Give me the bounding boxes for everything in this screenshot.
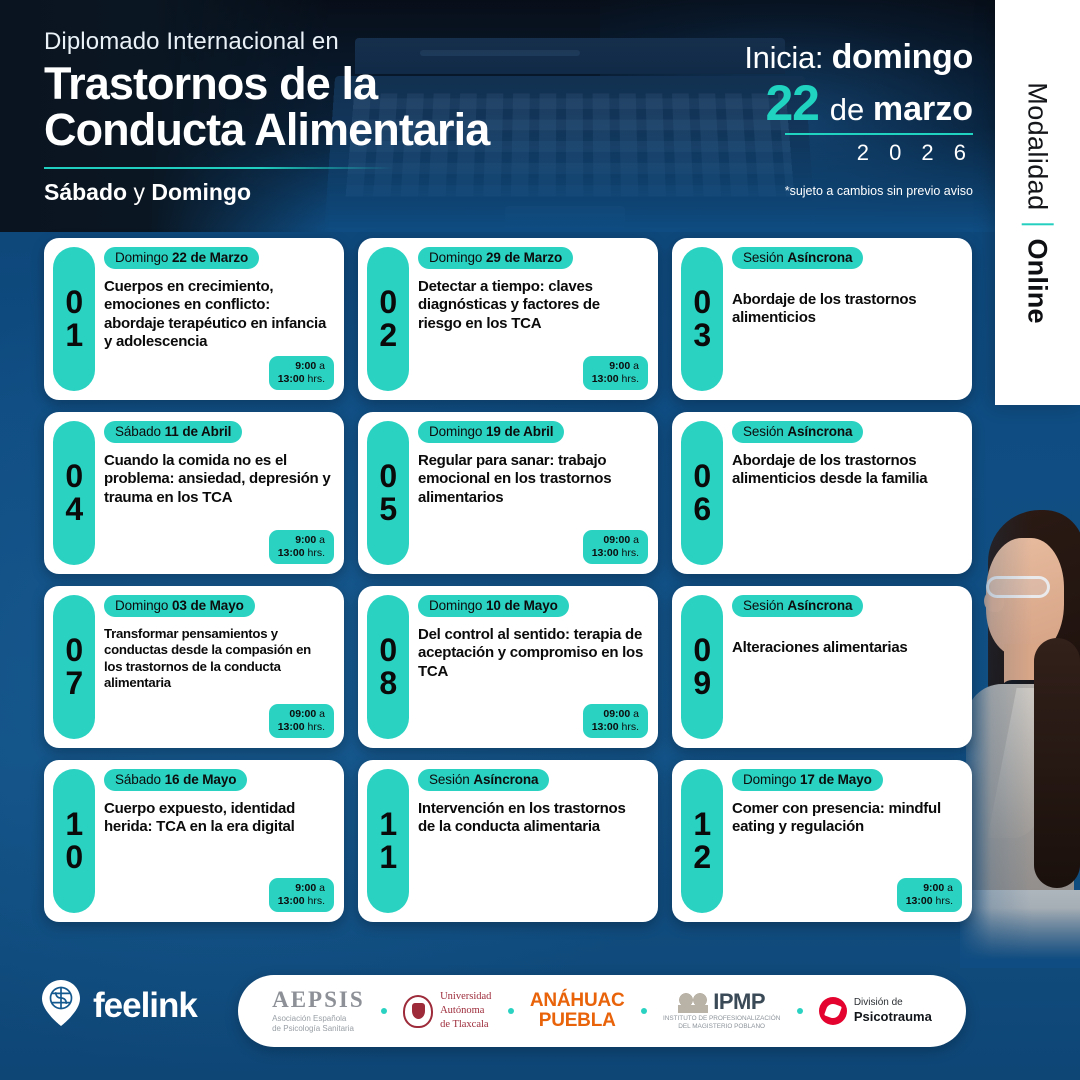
module-grid: 01Domingo 22 de MarzoCuerpos en crecimie… [44,238,968,922]
module-title: Intervención en los trastornos de la con… [418,800,648,837]
module-date-badge: Sesión Asíncrona [418,769,549,791]
module-number: 05 [367,421,409,565]
modality-value: Online [1022,238,1053,323]
start-label: Inicia: [744,40,823,75]
uat-line-3: de Tlaxcala [440,1018,491,1032]
module-number: 10 [53,769,95,913]
module-time-badge: 9:00 a 13:00 hrs. [583,356,648,390]
day-conjunction: y [127,179,151,205]
module-date-prefix: Domingo [429,424,486,439]
module-time-badge: 9:00 a 13:00 hrs. [897,878,962,912]
title-divider [44,167,394,169]
psicotrauma-line-1: División de [854,997,932,1009]
module-number-top: 0 [65,460,82,493]
time-unit: hrs. [305,547,325,559]
title-line-1: Trastornos de la [44,61,644,107]
module-number-bottom: 7 [65,667,82,700]
module-number-top: 1 [65,808,82,841]
time-unit: hrs. [619,721,639,733]
module-number: 03 [681,247,723,391]
disclaimer-note: *sujeto a cambios sin previo aviso [673,184,973,198]
time-separator: a [630,534,639,546]
day-sunday: Domingo [151,179,251,205]
person-photo [960,498,1080,968]
module-number-bottom: 5 [379,493,396,526]
module-time-badge: 9:00 a 13:00 hrs. [269,878,334,912]
module-date-prefix: Sesión [743,250,787,265]
module-date-badge: Sesión Asíncrona [732,595,863,617]
module-number: 08 [367,595,409,739]
module-card[interactable]: 05Domingo 19 de AbrilRegular para sanar:… [358,412,658,574]
module-number-bottom: 4 [65,493,82,526]
module-number-top: 0 [65,634,82,667]
time-unit: hrs. [933,895,953,907]
time-end: 13:00 [592,547,619,559]
aepsis-sub-1: Asociación Española [272,1014,365,1024]
module-number-bottom: 0 [65,841,82,874]
anahuac-name: ANÁHUAC PUEBLA [530,991,625,1031]
module-date-badge: Domingo 19 de Abril [418,421,564,443]
module-title: Detectar a tiempo: claves diagnósticas y… [418,278,648,333]
module-card[interactable]: 02Domingo 29 de MarzoDetectar a tiempo: … [358,238,658,400]
time-separator: a [316,360,325,372]
module-number: 02 [367,247,409,391]
partner-psicotrauma: División de Psicotrauma [819,997,932,1025]
module-card[interactable]: 07Domingo 03 de MayoTransformar pensamie… [44,586,344,748]
module-date-prefix: Domingo [429,250,486,265]
module-date-badge: Sesión Asíncrona [732,247,863,269]
module-title: Cuerpo expuesto, identidad herida: TCA e… [104,800,334,837]
module-date-prefix: Domingo [115,250,172,265]
ipmp-subtitle: INSTITUTO DE PROFESIONALIZACIÓN DEL MAGI… [663,1015,780,1032]
module-date-value: Asíncrona [787,250,852,265]
time-end: 13:00 [278,895,305,907]
module-date-badge: Sesión Asíncrona [732,421,863,443]
time-end: 13:00 [278,721,305,733]
module-number-bottom: 2 [693,841,710,874]
uat-name: Universidad Autónoma de Tlaxcala [440,990,491,1032]
aepsis-subtitle: Asociación Española de Psicología Sanita… [272,1014,365,1034]
program-kicker: Diplomado Internacional en [44,28,644,56]
month-name: marzo [873,90,973,128]
module-time-badge: 09:00 a 13:00 hrs. [583,530,648,564]
time-unit: hrs. [619,547,639,559]
time-end: 13:00 [592,373,619,385]
module-number-bottom: 2 [379,319,396,352]
ipmp-logo-icon [678,991,708,1013]
module-title: Abordaje de los trastornos alimenticios … [732,452,962,489]
module-number-bottom: 1 [379,841,396,874]
module-date-value: Asíncrona [787,598,852,613]
module-number-top: 0 [65,286,82,319]
start-date-line-1: Inicia: domingo [673,38,973,77]
module-time-badge: 9:00 a 13:00 hrs. [269,356,334,390]
module-date-prefix: Sesión [429,772,473,787]
module-number-top: 1 [379,808,396,841]
module-date-value: 16 de Mayo [165,772,237,787]
module-number-bottom: 8 [379,667,396,700]
location-pin-brain-icon [40,979,82,1032]
module-card[interactable]: 11Sesión AsíncronaIntervención en los tr… [358,760,658,922]
start-weekday: domingo [832,38,973,76]
module-number: 06 [681,421,723,565]
partner-anahuac: ANÁHUAC PUEBLA [530,991,625,1031]
module-number-bottom: 3 [693,319,710,352]
module-number: 04 [53,421,95,565]
module-number: 09 [681,595,723,739]
start-date-block: Inicia: domingo 22 de marzo 2 0 2 6 *suj… [673,38,973,198]
module-number: 01 [53,247,95,391]
time-unit: hrs. [305,721,325,733]
module-number-top: 0 [693,634,710,667]
ipmp-sub-2: DEL MAGISTERIO POBLANO [663,1023,780,1031]
time-start: 9:00 [609,360,630,372]
ipmp-sub-1: INSTITUTO DE PROFESIONALIZACIÓN [663,1015,780,1023]
module-number-bottom: 9 [693,667,710,700]
aepsis-name: AEPSIS [272,988,365,1011]
module-card[interactable]: 01Domingo 22 de MarzoCuerpos en crecimie… [44,238,344,400]
ipmp-name: IPMP [713,991,765,1013]
module-title: Regular para sanar: trabajo emocional en… [418,452,648,507]
module-date-badge: Domingo 17 de Mayo [732,769,883,791]
module-number-top: 0 [379,634,396,667]
module-date-badge: Domingo 03 de Mayo [104,595,255,617]
time-unit: hrs. [305,895,325,907]
module-date-badge: Sábado 16 de Mayo [104,769,247,791]
module-date-badge: Domingo 22 de Marzo [104,247,259,269]
module-card[interactable]: 10Sábado 16 de MayoCuerpo expuesto, iden… [44,760,344,922]
module-card[interactable]: 08Domingo 10 de MayoDel control al senti… [358,586,658,748]
module-date-prefix: Domingo [115,598,172,613]
separator-dot [797,1008,803,1014]
month-prefix: de [830,92,873,127]
module-number-bottom: 6 [693,493,710,526]
module-date-badge: Sábado 11 de Abril [104,421,242,443]
anahuac-line-1: ANÁHUAC [530,991,625,1011]
time-separator: a [316,708,325,720]
schedule-days: Sábado y Domingo [44,179,644,206]
title-line-2: Conducta Alimentaria [44,107,644,153]
separator-dot [508,1008,514,1014]
module-number: 07 [53,595,95,739]
partner-aepsis: AEPSIS Asociación Española de Psicología… [272,988,365,1034]
start-year: 2 0 2 6 [673,140,973,166]
module-time-badge: 09:00 a 13:00 hrs. [583,704,648,738]
module-date-value: 19 de Abril [486,424,553,439]
module-card[interactable]: 12Domingo 17 de MayoComer con presencia:… [672,760,972,922]
module-card[interactable]: 03Sesión AsíncronaAbordaje de los trasto… [672,238,972,400]
start-month: de marzo [830,90,973,129]
time-end: 13:00 [592,721,619,733]
module-number: 11 [367,769,409,913]
time-start: 09:00 [603,534,630,546]
time-unit: hrs. [305,373,325,385]
psicotrauma-line-2: Psicotrauma [854,1009,932,1025]
module-date-value: Asíncrona [787,424,852,439]
psicotrauma-logo-icon [819,997,847,1025]
module-title: Alteraciones alimentarias [732,639,962,657]
partner-uat: Universidad Autónoma de Tlaxcala [403,990,491,1032]
anahuac-line-2: PUEBLA [530,1011,625,1031]
module-number-bottom: 1 [65,319,82,352]
brand-logo[interactable]: feelink [40,979,197,1032]
time-end: 13:00 [278,547,305,559]
module-number-top: 1 [693,808,710,841]
module-number: 12 [681,769,723,913]
modality-panel: Modalidad Online [995,0,1080,405]
time-start: 9:00 [295,534,316,546]
time-end: 13:00 [906,895,933,907]
module-time-badge: 9:00 a 13:00 hrs. [269,530,334,564]
module-date-value: Asíncrona [473,772,538,787]
module-title: Cuerpos en crecimiento, emociones en con… [104,278,334,351]
module-card[interactable]: 06Sesión AsíncronaAbordaje de los trasto… [672,412,972,574]
time-start: 9:00 [923,882,944,894]
module-date-value: 11 de Abril [165,424,232,439]
module-date-value: 22 de Marzo [172,250,248,265]
partner-logos-bar: AEPSIS Asociación Española de Psicología… [238,975,966,1047]
uat-line-1: Universidad [440,990,491,1004]
module-number-top: 0 [693,460,710,493]
separator-dot [641,1008,647,1014]
partner-ipmp: IPMP INSTITUTO DE PROFESIONALIZACIÓN DEL… [663,991,780,1032]
start-date-line-2: 22 de marzo [673,78,973,129]
time-separator: a [316,534,325,546]
time-unit: hrs. [619,373,639,385]
module-number-top: 0 [693,286,710,319]
time-start: 09:00 [603,708,630,720]
time-end: 13:00 [278,373,305,385]
module-date-value: 17 de Mayo [800,772,872,787]
header-block: Diplomado Internacional en Trastornos de… [44,28,644,206]
brand-name: feelink [93,986,197,1026]
module-date-prefix: Sesión [743,424,787,439]
module-title: Cuando la comida no es el problema: ansi… [104,452,334,507]
module-date-badge: Domingo 10 de Mayo [418,595,569,617]
module-title: Del control al sentido: terapia de acept… [418,626,648,681]
start-day-number: 22 [766,78,819,128]
separator-dot [381,1008,387,1014]
module-date-value: 03 de Mayo [172,598,244,613]
module-date-prefix: Domingo [429,598,486,613]
time-separator: a [630,360,639,372]
module-time-badge: 09:00 a 13:00 hrs. [269,704,334,738]
aepsis-sub-2: de Psicología Sanitaria [272,1024,365,1034]
page-title: Trastornos de la Conducta Alimentaria [44,61,644,154]
module-date-value: 29 de Marzo [486,250,562,265]
time-start: 9:00 [295,882,316,894]
module-title: Comer con presencia: mindful eating y re… [732,800,962,837]
time-separator: a [316,882,325,894]
time-start: 09:00 [289,708,316,720]
date-divider [785,133,973,135]
module-number-top: 0 [379,286,396,319]
module-date-prefix: Sábado [115,772,165,787]
day-saturday: Sábado [44,179,127,205]
module-date-prefix: Sábado [115,424,165,439]
module-date-prefix: Domingo [743,772,800,787]
module-number-top: 0 [379,460,396,493]
time-separator: a [944,882,953,894]
uat-crest-icon [403,995,433,1028]
modality-label: Modalidad [1022,82,1053,210]
modality-accent-bar [1022,223,1054,225]
time-start: 9:00 [295,360,316,372]
module-date-value: 10 de Mayo [486,598,558,613]
module-date-badge: Domingo 29 de Marzo [418,247,573,269]
uat-line-2: Autónoma [440,1004,491,1018]
module-title: Transformar pensamientos y conductas des… [104,626,334,691]
time-separator: a [630,708,639,720]
module-card[interactable]: 09Sesión AsíncronaAlteraciones alimentar… [672,586,972,748]
module-title: Abordaje de los trastornos alimenticios [732,291,962,328]
module-date-prefix: Sesión [743,598,787,613]
module-card[interactable]: 04Sábado 11 de AbrilCuando la comida no … [44,412,344,574]
